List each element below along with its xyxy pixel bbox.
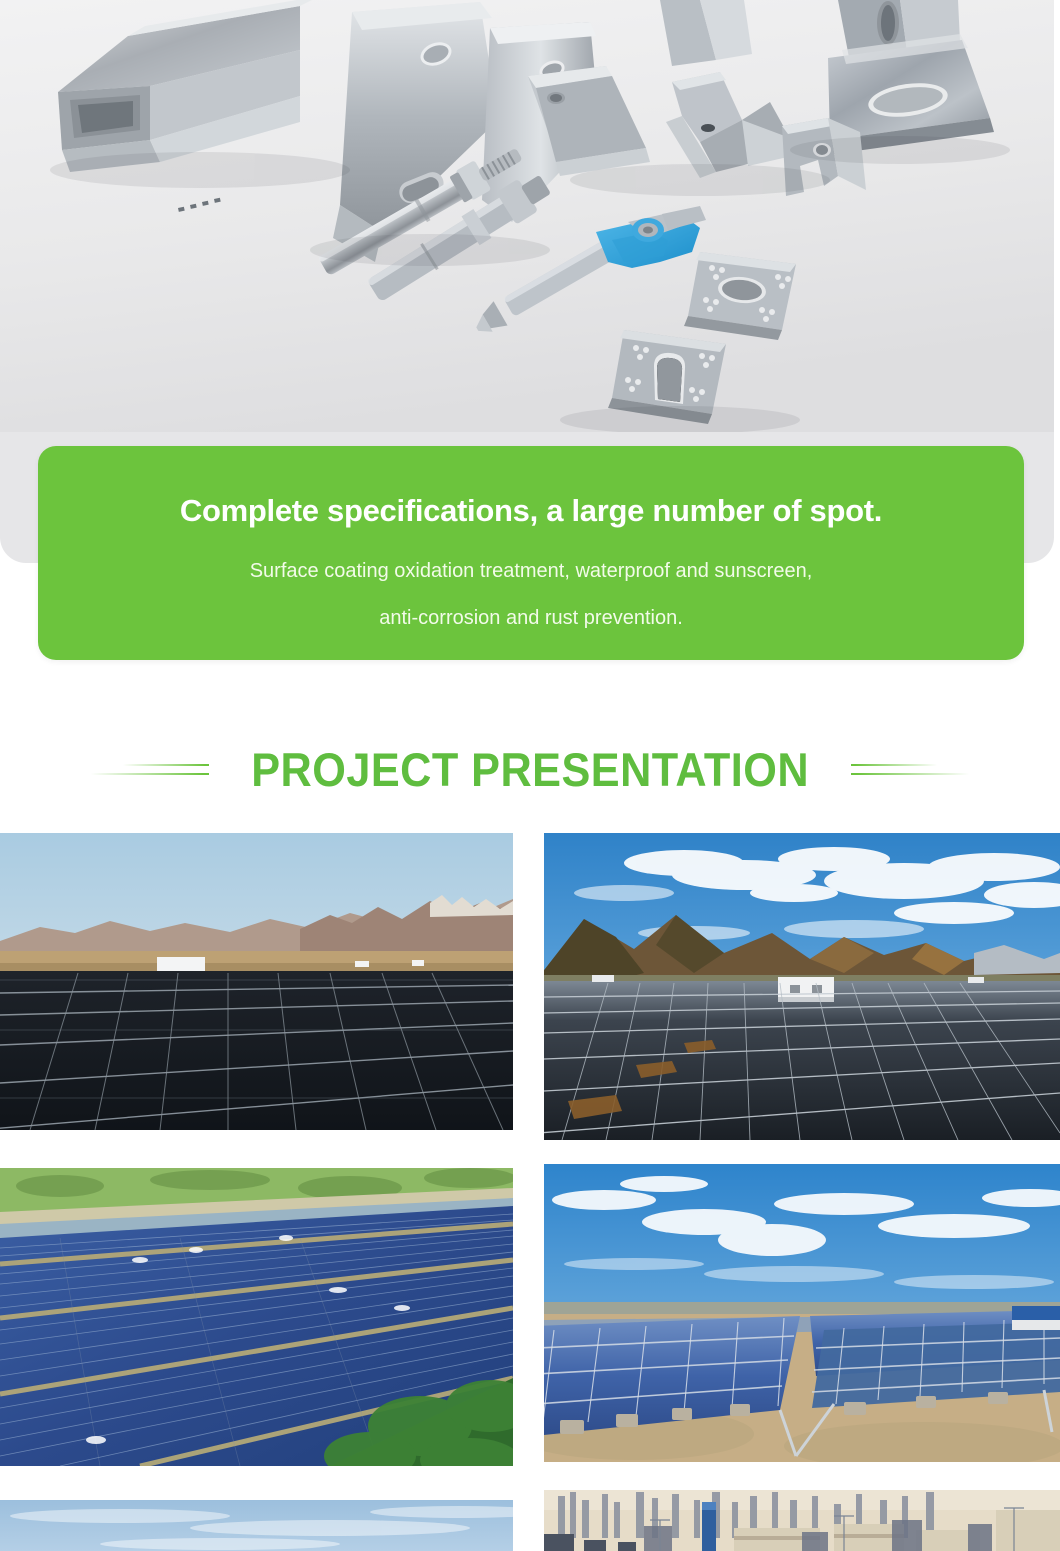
project-image-desert-solar-farm[interactable]: [0, 833, 513, 1130]
callout-title: Complete specifications, a large number …: [38, 446, 1024, 528]
project-presentation-heading: PROJECT PRESENTATION: [0, 714, 1060, 824]
double-dash-line-right-icon: [851, 752, 969, 786]
callout-line-2: anti-corrosion and rust prevention.: [38, 582, 1024, 629]
project-image-sky-panorama[interactable]: [0, 1500, 513, 1551]
solar-mounting-hardware-photo: [0, 0, 1054, 432]
product-detail-page: Complete specifications, a large number …: [0, 0, 1060, 1551]
project-gallery: [0, 833, 1060, 1551]
project-image-industrial-skyline[interactable]: [544, 1490, 1060, 1551]
double-dash-line-left-icon: [91, 752, 209, 786]
callout-line-1: Surface coating oxidation treatment, wat…: [38, 528, 1024, 582]
spec-callout-card: Complete specifications, a large number …: [38, 446, 1024, 660]
hero-section: Complete specifications, a large number …: [0, 0, 1060, 565]
project-image-aerial-blue-solar-field[interactable]: [0, 1168, 513, 1466]
page-title: PROJECT PRESENTATION: [251, 742, 809, 797]
project-image-ground-mount-array[interactable]: [544, 1164, 1060, 1462]
project-image-mountain-solar-plant[interactable]: [544, 833, 1060, 1140]
